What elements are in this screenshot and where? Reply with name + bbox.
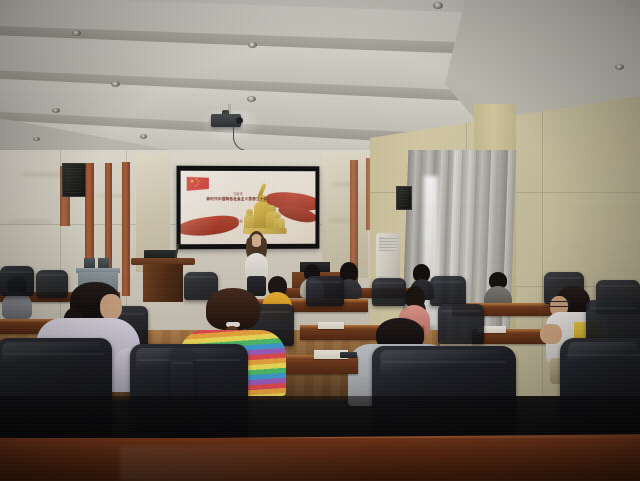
red-ribbon	[181, 213, 240, 239]
slide-title: 新时代中国特色社会主义思想三十讲	[191, 197, 283, 202]
downlight-icon	[140, 134, 147, 139]
downlight-icon	[52, 108, 60, 113]
downlight-icon	[247, 96, 256, 102]
wall-speaker-right	[396, 186, 412, 210]
marble-panel-right	[322, 152, 368, 278]
wall-stripe	[350, 160, 358, 276]
slide-subtitle: 中共中央宣传部组编	[197, 219, 263, 223]
downlight-icon	[248, 42, 257, 48]
downlight-icon	[433, 2, 443, 9]
chair	[372, 278, 406, 306]
lectern	[143, 264, 183, 302]
wall-stripe	[122, 162, 130, 296]
downlight-icon	[33, 137, 40, 141]
arm	[540, 324, 562, 344]
lecture-hall-photo: ★ ★ ★ ★ ★ 习近平 新时代中国特	[0, 0, 640, 481]
glasses-icon	[549, 301, 570, 307]
smartphone	[340, 352, 357, 358]
chair	[430, 276, 466, 306]
downlight-icon	[111, 81, 120, 87]
chair	[306, 276, 344, 306]
head	[100, 294, 122, 320]
ac-grill-icon	[379, 237, 397, 251]
china-flag-icon: ★ ★ ★ ★ ★	[187, 177, 209, 191]
downlight-icon	[72, 30, 81, 36]
slide-kicker: 习近平	[221, 191, 255, 196]
downlight-icon	[615, 64, 624, 70]
wall-speaker-left	[62, 163, 86, 197]
projector-lens-icon	[236, 117, 243, 124]
notebook	[318, 322, 344, 329]
desk-sheen	[120, 446, 480, 481]
chair	[438, 304, 484, 344]
